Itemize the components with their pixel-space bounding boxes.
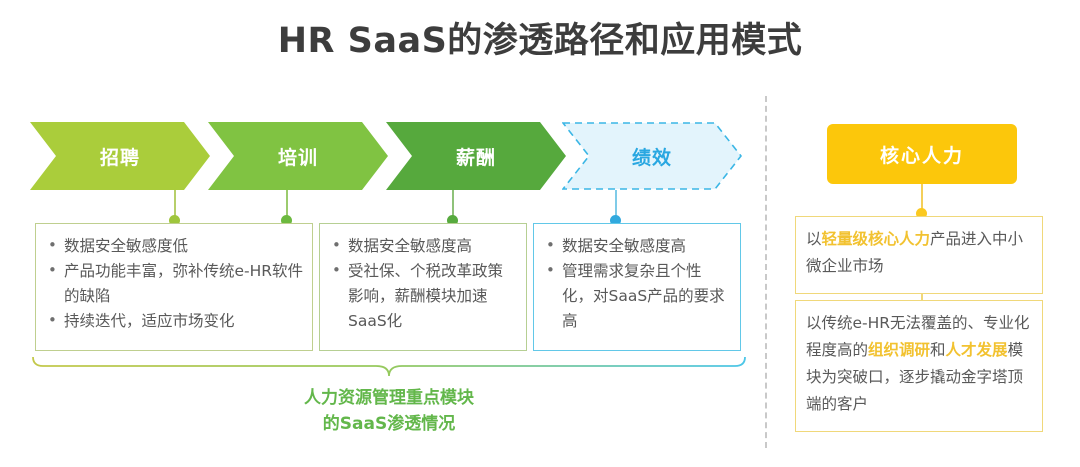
core-hr-label: 核心人力 xyxy=(880,141,964,168)
stage-chevron-compensation[interactable]: 薪酬 xyxy=(386,122,566,190)
group-brace xyxy=(32,355,746,379)
core-hr-header-box[interactable]: 核心人力 xyxy=(827,124,1017,184)
stage-chevron-training[interactable]: 培训 xyxy=(208,122,388,190)
list-item: 数据安全敏感度高 xyxy=(328,234,518,259)
left-panel-caption: 人力资源管理重点模块 的SaaS渗透情况 xyxy=(32,385,746,437)
brace-shape xyxy=(32,355,746,379)
detail-box-recruitment: 数据安全敏感度低 产品功能丰富，弥补传统e-HR软件的缺陷 持续迭代，适应市场变… xyxy=(35,223,313,351)
text-segment: 和 xyxy=(930,341,946,359)
bullet-list: 数据安全敏感度高 管理需求复杂且个性化，对SaaS产品的要求高 xyxy=(542,234,732,334)
caption-line-2: 的SaaS渗透情况 xyxy=(32,411,746,437)
highlight-lightweight-core-hr: 轻量级核心人力 xyxy=(822,230,931,248)
bullet-list: 数据安全敏感度高 受社保、个税改革政策影响，薪酬模块加速SaaS化 xyxy=(328,234,518,334)
list-item: 数据安全敏感度高 xyxy=(542,234,732,259)
highlight-talent-development: 人才发展 xyxy=(946,341,1008,359)
detail-box-performance: 数据安全敏感度高 管理需求复杂且个性化，对SaaS产品的要求高 xyxy=(533,223,741,351)
detail-box-compensation: 数据安全敏感度高 受社保、个税改革政策影响，薪酬模块加速SaaS化 xyxy=(319,223,527,351)
stage-label: 培训 xyxy=(278,143,318,170)
list-item: 受社保、个税改革政策影响，薪酬模块加速SaaS化 xyxy=(328,259,518,334)
stage-chevron-performance[interactable]: 绩效 xyxy=(562,122,742,190)
right-detail-box-2: 以传统e-HR无法覆盖的、专业化程度高的组织调研和人才发展模块为突破口，逐步撬动… xyxy=(795,300,1043,432)
right-detail-box-1: 以轻量级核心人力产品进入中小微企业市场 xyxy=(795,216,1043,294)
list-item: 持续迭代，适应市场变化 xyxy=(44,309,304,334)
stage-label: 招聘 xyxy=(100,143,140,170)
highlight-org-research: 组织调研 xyxy=(868,341,930,359)
page-title: HR SaaS的渗透路径和应用模式 xyxy=(0,12,1080,63)
list-item: 产品功能丰富，弥补传统e-HR软件的缺陷 xyxy=(44,259,304,309)
section-divider xyxy=(765,96,767,448)
stage-label-wrap: 绩效 xyxy=(562,122,742,190)
list-item: 管理需求复杂且个性化，对SaaS产品的要求高 xyxy=(542,259,732,334)
caption-line-1: 人力资源管理重点模块 xyxy=(32,385,746,411)
bullet-list: 数据安全敏感度低 产品功能丰富，弥补传统e-HR软件的缺陷 持续迭代，适应市场变… xyxy=(44,234,304,334)
stage-chevron-recruitment[interactable]: 招聘 xyxy=(30,122,210,190)
list-item: 数据安全敏感度低 xyxy=(44,234,304,259)
text-segment: 以 xyxy=(806,230,822,248)
stage-label: 薪酬 xyxy=(456,143,496,170)
stage-label: 绩效 xyxy=(632,143,672,170)
